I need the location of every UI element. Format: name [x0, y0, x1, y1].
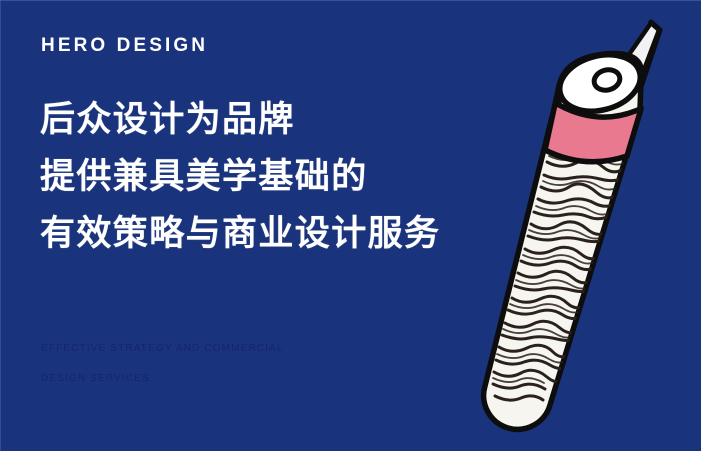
cap: [553, 46, 646, 119]
headline-line-3: 有效策略与商业设计服务: [40, 205, 510, 262]
headline-line-1: 后众设计为品牌: [40, 91, 510, 148]
craft-knife-illustration: [455, 0, 701, 451]
headline-group: 后众设计为品牌 提供兼具美学基础的 有效策略与商业设计服务: [40, 91, 510, 262]
subcopy-group: EFFECTIVE STRATEGY AND COMMERCIAL DESIGN…: [41, 334, 461, 394]
subcopy-line-2: DESIGN SERVICES: [41, 364, 461, 394]
subcopy-line-1: EFFECTIVE STRATEGY AND COMMERCIAL: [41, 334, 461, 364]
hero-banner: HERO DESIGN 后众设计为品牌 提供兼具美学基础的 有效策略与商业设计服…: [0, 0, 701, 451]
left-edge-line: [0, 0, 1, 451]
headline-line-2: 提供兼具美学基础的: [40, 148, 510, 205]
brand-eyebrow: HERO DESIGN: [41, 36, 510, 55]
text-content-block: HERO DESIGN 后众设计为品牌 提供兼具美学基础的 有效策略与商业设计服…: [40, 36, 510, 262]
